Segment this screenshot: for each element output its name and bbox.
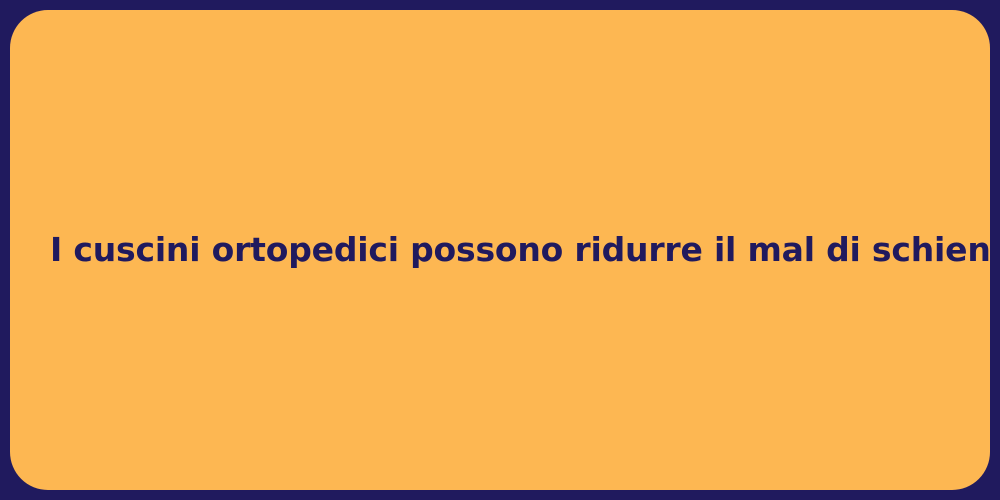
page-title: I cuscini ortopedici possono ridurre il … xyxy=(10,229,990,270)
banner-container: I cuscini ortopedici possono ridurre il … xyxy=(0,0,1000,500)
content-card: I cuscini ortopedici possono ridurre il … xyxy=(10,10,990,490)
